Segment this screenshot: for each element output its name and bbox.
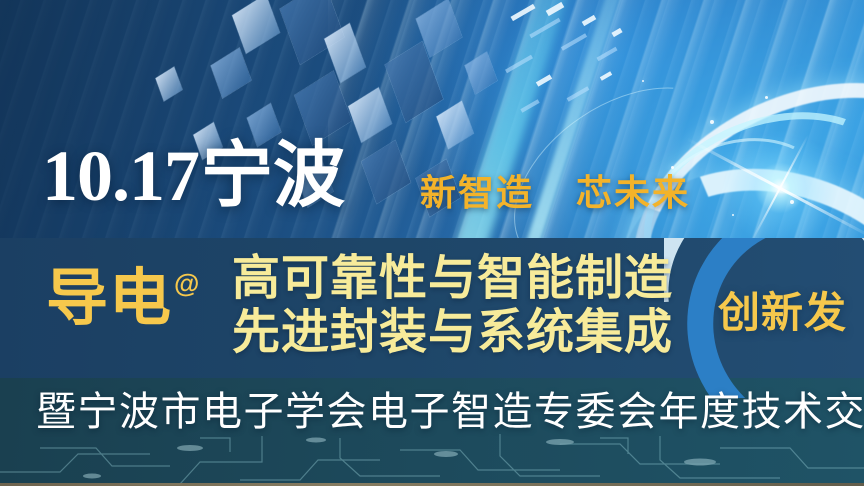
headline-line-2: 先进封装与系统集成: [232, 306, 673, 360]
date-and-city-row: 10.17 宁波: [42, 140, 345, 212]
event-subtitle: 暨宁波市电子学会电子智造专委会年度技术交: [36, 392, 864, 432]
event-date: 10.17: [42, 140, 199, 212]
circuit-trace-pattern: [0, 432, 864, 486]
lens-flare-sparkle: [720, 128, 840, 248]
brand-at-symbol: @: [174, 270, 199, 296]
event-city: 宁波: [201, 140, 345, 212]
headline-line-1: 高可靠性与智能制造: [232, 252, 673, 306]
side-slogan: 创新发: [718, 292, 847, 334]
event-tagline: 新智造 芯未来: [420, 175, 690, 211]
tagline-part-1: 新智造: [420, 172, 534, 213]
main-headline: 高可靠性与智能制造 先进封装与系统集成: [232, 252, 673, 360]
tagline-part-2: 芯未来: [576, 172, 690, 213]
conference-poster: 10.17 宁波 新智造 芯未来 导电 @ 高可靠性与智能制造 先进封装与系统集…: [0, 0, 864, 486]
brand-name: 导电: [46, 268, 172, 330]
brand-logo: 导电 @: [46, 268, 199, 330]
